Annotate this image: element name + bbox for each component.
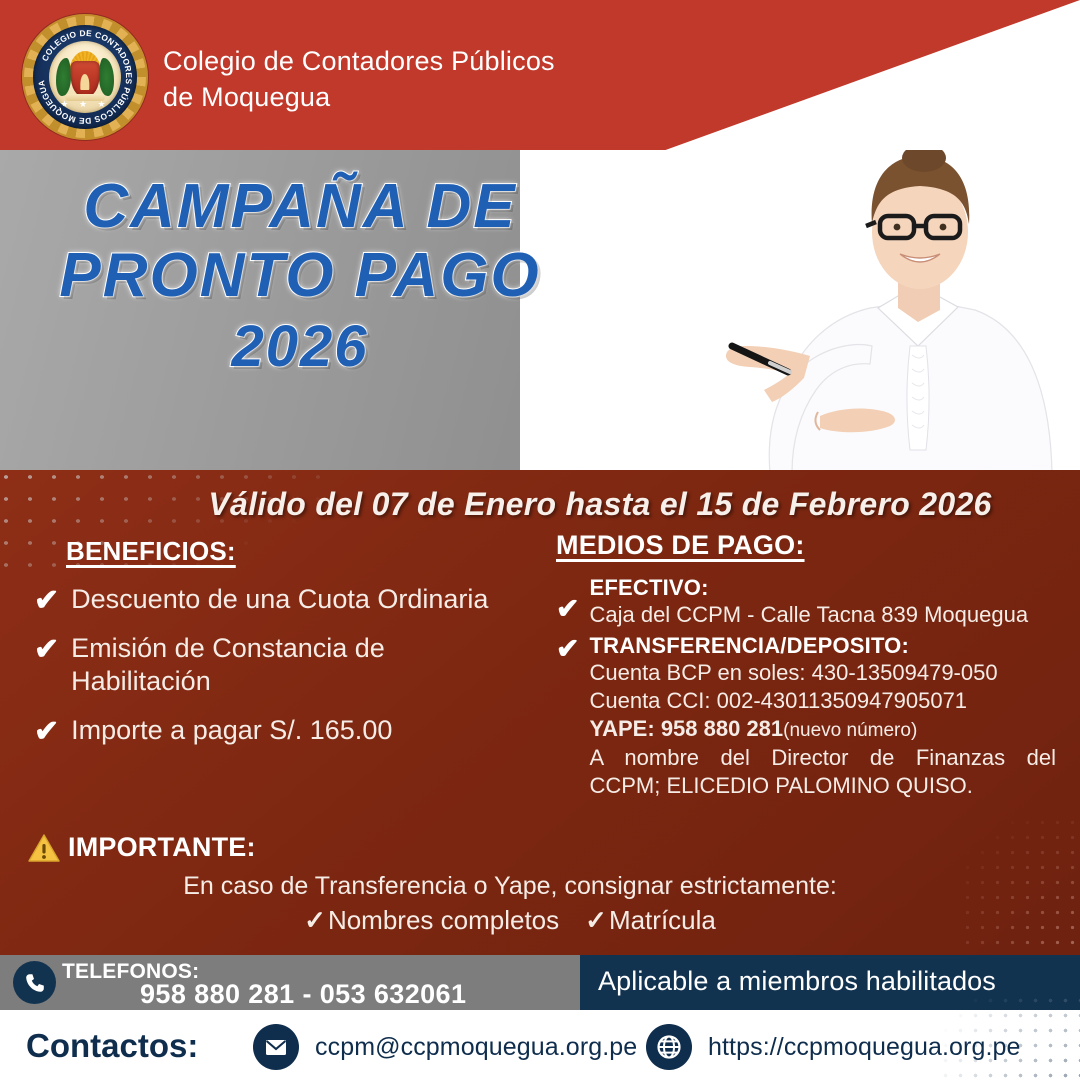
seal-laurel-left-icon [56, 58, 70, 95]
organization-name-line2: de Moquegua [163, 80, 643, 116]
payment-transfer-label: TRANSFERENCIA/DEPOSITO: [589, 633, 1056, 659]
header-bar: COLEGIO DE CONTADORES PÚBLICOS DE MOQUEG… [0, 0, 1080, 152]
envelope-icon [253, 1024, 299, 1070]
campaign-title-line2: PRONTO PAGO [59, 241, 540, 310]
check-icon: ✓ [585, 905, 607, 935]
contact-website-text: https://ccpmoquegua.org.pe [708, 1033, 1021, 1062]
globe-glyph [655, 1033, 683, 1061]
benefit-item-text: Emisión de Constancia de Habilitación [71, 632, 514, 698]
important-required-list: ✓Nombres completos ✓Matrícula [0, 905, 1080, 936]
main-content-panel: Válido del 07 de Enero hasta el 15 de Fe… [0, 470, 1080, 955]
important-heading-row: IMPORTANTE: [28, 832, 1080, 863]
payment-yape-number: 958 880 281 [661, 716, 783, 741]
benefit-item-text: Descuento de una Cuota Ordinaria [71, 583, 488, 616]
campaign-title: CAMPAÑA DE PRONTO PAGO 2026 [0, 172, 600, 380]
phone-bar: TELEFONOS: 958 880 281 - 053 632061 Apli… [0, 955, 1080, 1010]
benefits-column: BENEFICIOS: ✔ Descuento de una Cuota Ord… [34, 536, 514, 747]
required-item: ✓Nombres completos [304, 905, 559, 936]
check-icon: ✓ [304, 905, 326, 935]
benefit-item: ✔ Emisión de Constancia de Habilitación [34, 632, 514, 698]
payment-yape-note: (nuevo número) [783, 720, 917, 741]
campaign-title-line1: CAMPAÑA DE [83, 172, 516, 241]
hero-section: CAMPAÑA DE PRONTO PAGO 2026 [0, 150, 1080, 473]
contact-website-item[interactable]: https://ccpmoquegua.org.pe [646, 1024, 1021, 1070]
important-notice: IMPORTANTE: En caso de Transferencia o Y… [0, 832, 1080, 936]
presenter-woman-photo [520, 150, 1080, 473]
envelope-glyph [263, 1034, 289, 1060]
contact-bar: Contactos: ccpm@ccpmoquegua.org.pe https… [0, 1010, 1080, 1080]
required-item: ✓Matrícula [585, 905, 716, 936]
warning-triangle-icon [28, 833, 60, 863]
payment-holder-line1: A nombre del Director de Finanzas del [589, 744, 1056, 772]
payment-yape-label: YAPE: [589, 716, 654, 741]
payment-account-cci: Cuenta CCI: 002-43011350947905071 [589, 687, 1056, 715]
seal-stars: ★ ★ ★ [49, 100, 121, 109]
check-icon: ✔ [556, 595, 579, 623]
check-icon: ✔ [34, 717, 59, 747]
phone-icon [13, 961, 56, 1004]
organization-name: Colegio de Contadores Públicos de Moqueg… [163, 44, 643, 115]
important-heading: IMPORTANTE: [68, 832, 256, 863]
check-icon: ✔ [556, 635, 579, 663]
globe-icon [646, 1024, 692, 1070]
benefit-item: ✔ Importe a pagar S/. 165.00 [34, 714, 514, 747]
payment-cash-detail: Caja del CCPM - Calle Tacna 839 Moquegua [589, 601, 1056, 629]
contacts-label: Contactos: [26, 1027, 198, 1065]
phones-numbers: 958 880 281 - 053 632061 [140, 979, 466, 1010]
seal-laurel-right-icon [99, 58, 113, 95]
check-icon: ✔ [34, 586, 59, 616]
payment-transfer-block: ✔ TRANSFERENCIA/DEPOSITO: Cuenta BCP en … [556, 633, 1056, 800]
required-item-text: Matrícula [609, 905, 716, 935]
poster-root: COLEGIO DE CONTADORES PÚBLICOS DE MOQUEG… [0, 0, 1080, 1080]
payment-heading: MEDIOS DE PAGO: [556, 530, 1056, 561]
payment-account-bcp: Cuenta BCP en soles: 430-13509479-050 [589, 659, 1056, 687]
payment-holder-line2: CCPM; ELICEDIO PALOMINO QUISO. [589, 772, 1056, 800]
check-icon: ✔ [34, 635, 59, 665]
validity-text: Válido del 07 de Enero hasta el 15 de Fe… [0, 486, 1080, 523]
institution-seal-logo: COLEGIO DE CONTADORES PÚBLICOS DE MOQUEG… [22, 14, 148, 140]
benefits-heading: BENEFICIOS: [66, 536, 514, 567]
benefit-item: ✔ Descuento de una Cuota Ordinaria [34, 583, 514, 616]
payment-cash-block: ✔ EFECTIVO: Caja del CCPM - Calle Tacna … [556, 575, 1056, 629]
phone-handset-glyph [23, 971, 47, 995]
required-item-text: Nombres completos [328, 905, 559, 935]
contact-email-item[interactable]: ccpm@ccpmoquegua.org.pe [253, 1024, 637, 1070]
organization-name-line1: Colegio de Contadores Públicos [163, 44, 643, 80]
payment-methods-column: MEDIOS DE PAGO: ✔ EFECTIVO: Caja del CCP… [556, 530, 1056, 800]
seal-emblem-center: ★ ★ ★ [49, 41, 121, 113]
campaign-title-year: 2026 [0, 315, 600, 380]
payment-yape-row: YAPE: 958 880 281(nuevo número) [589, 715, 1056, 743]
payment-cash-label: EFECTIVO: [589, 575, 1056, 601]
contact-email-text: ccpm@ccpmoquegua.org.pe [315, 1033, 637, 1062]
benefit-item-text: Importe a pagar S/. 165.00 [71, 714, 392, 747]
important-instruction: En caso de Transferencia o Yape, consign… [0, 872, 1080, 901]
